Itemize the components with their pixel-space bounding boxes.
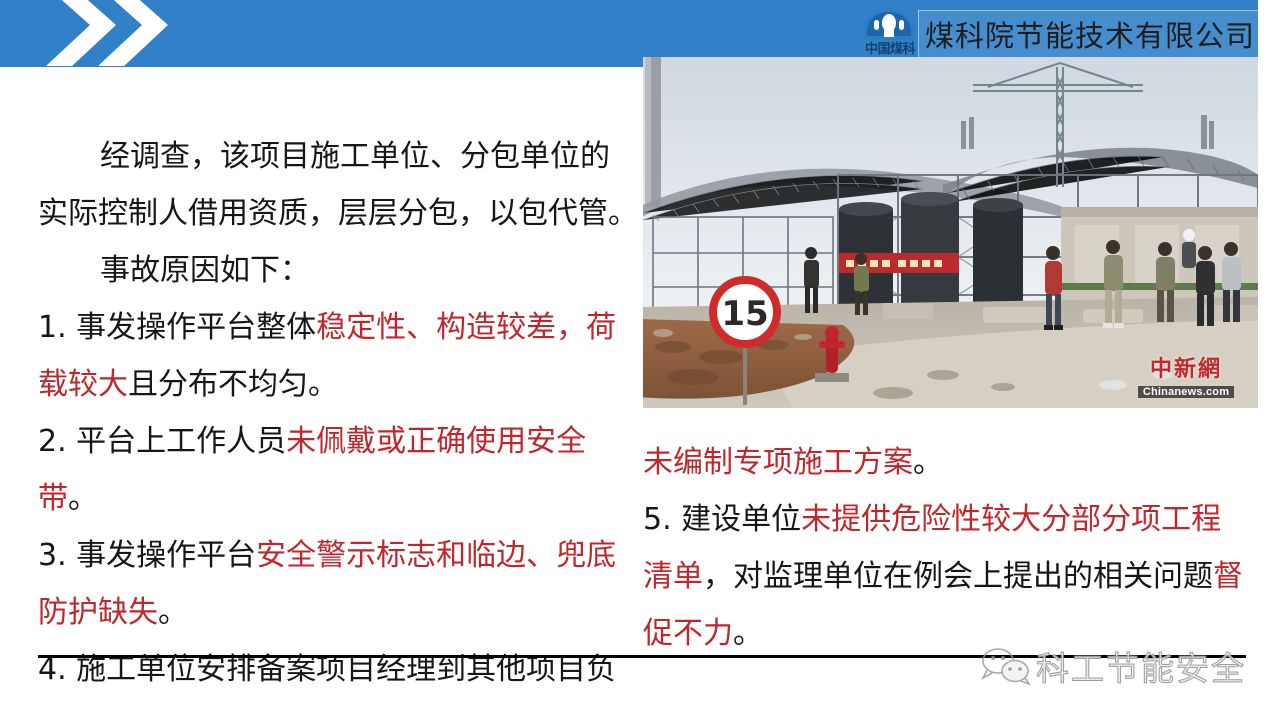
cause-2-run-0: 2. 平台上工作人员 [38, 424, 286, 459]
wechat-watermark-label: 科工节能安全 [1036, 642, 1246, 690]
photo-watermark-en: Chinanews.com [1138, 386, 1234, 398]
cause-3-run-0: 3. 事发操作平台 [38, 538, 256, 573]
slide-root: 中国煤科 煤科院节能技术有限公司 [0, 0, 1280, 720]
left-text-column: 经调查，该项目施工单位、分包单位的实际控制人借用资质，层层分包，以包代管。事故原… [38, 128, 638, 698]
photo-watermark-cn: 中新網 [1126, 358, 1246, 382]
wechat-watermark: 科工节能安全 [978, 640, 1268, 692]
company-title: 煤科院节能技术有限公司 [919, 13, 1255, 55]
cause-5-run-0: 5. 建设单位 [643, 502, 801, 537]
right-text-column: 未编制专项施工方案。5. 建设单位未提供危险性较大分部分项工程清单，对监理单位在… [643, 434, 1243, 662]
svg-text:15: 15 [721, 294, 768, 334]
cause-4: 4. 施工单位安排备案项目经理到其他项目负 [38, 641, 638, 698]
cause-4-continued: 未编制专项施工方案。 [643, 434, 1243, 491]
construction-site-photo: 15 [643, 57, 1258, 408]
intro-paragraph: 经调查，该项目施工单位、分包单位的实际控制人借用资质，层层分包，以包代管。 [38, 128, 638, 242]
cause-2-run-2: 。 [68, 481, 98, 516]
causes-heading-run-0: 事故原因如下： [100, 253, 310, 288]
cause-1: 1. 事发操作平台整体稳定性、构造较差，荷载较大且分布不均匀。 [38, 299, 638, 413]
photo-watermark: 中新網 Chinanews.com [1126, 358, 1246, 400]
company-logo: 中国煤科 [852, 6, 928, 62]
cause-3-run-2: 。 [158, 595, 188, 630]
cause-5-run-2: ，对监理单位在例会上提出的相关问题 [703, 559, 1213, 594]
intro-paragraph-run-0: 经调查，该项目施工单位、分包单位的实际控制人借用资质，层层分包，以包代管。 [38, 139, 638, 231]
wechat-icon [978, 644, 1034, 688]
cause-1-run-0: 1. 事发操作平台整体 [38, 310, 316, 345]
cause-5-run-4: 。 [733, 616, 763, 651]
cause-3: 3. 事发操作平台安全警示标志和临边、兜底防护缺失。 [38, 527, 638, 641]
cctec-emblem-icon [860, 6, 918, 44]
cause-4-continued-run-0: 未编制专项施工方案 [643, 445, 913, 480]
cause-5: 5. 建设单位未提供危险性较大分部分项工程清单，对监理单位在例会上提出的相关问题… [643, 491, 1243, 662]
company-title-box: 煤科院节能技术有限公司 [918, 10, 1266, 58]
cause-1-run-2: 且分布不均匀。 [128, 367, 338, 402]
causes-heading: 事故原因如下： [38, 242, 638, 299]
header-right-edge [1258, 0, 1280, 67]
cause-4-continued-run-1: 。 [913, 445, 943, 480]
company-logo-label: 中国煤科 [852, 42, 928, 56]
double-chevron-right-icon [44, 0, 194, 74]
cause-2: 2. 平台上工作人员未佩戴或正确使用安全带。 [38, 413, 638, 527]
